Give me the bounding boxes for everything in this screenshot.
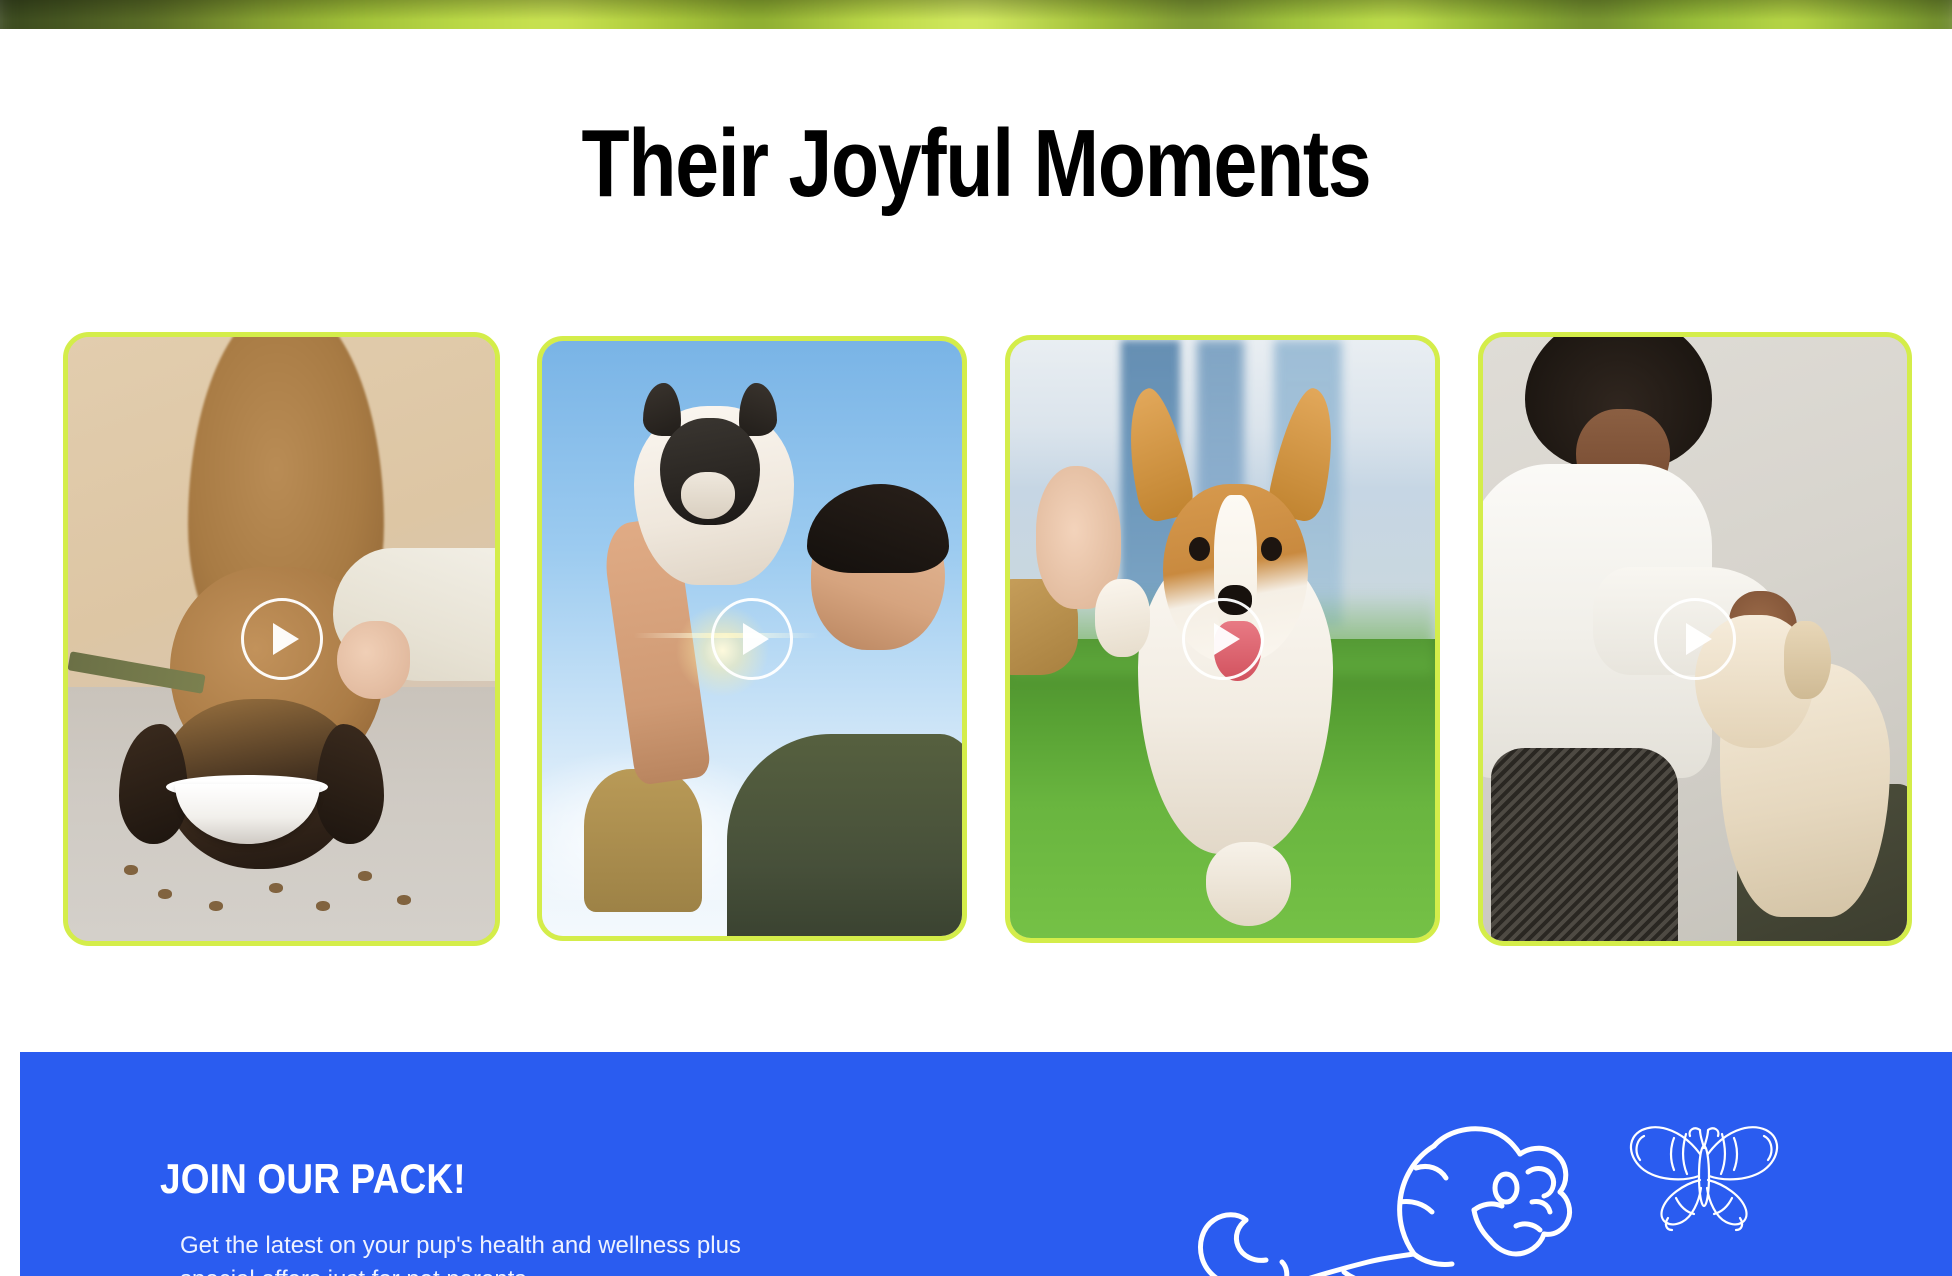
play-button-3[interactable] — [1182, 598, 1264, 680]
video-card-4[interactable] — [1478, 332, 1912, 946]
newsletter-heading: JOIN OUR PACK! — [160, 1157, 466, 1201]
page-root: Their Joyful Moments — [0, 0, 1952, 1276]
play-icon — [1686, 623, 1712, 655]
play-button-1[interactable] — [241, 598, 323, 680]
play-icon — [273, 623, 299, 655]
play-icon — [1214, 623, 1240, 655]
play-button-2[interactable] — [711, 598, 793, 680]
video-card-3[interactable] — [1005, 335, 1440, 943]
newsletter-subtitle: Get the latest on your pup's health and … — [180, 1229, 780, 1276]
video-card-1[interactable] — [63, 332, 500, 946]
play-icon — [743, 623, 769, 655]
play-button-4[interactable] — [1654, 598, 1736, 680]
video-card-2[interactable] — [537, 336, 967, 941]
video-card-grid — [0, 0, 1952, 1000]
